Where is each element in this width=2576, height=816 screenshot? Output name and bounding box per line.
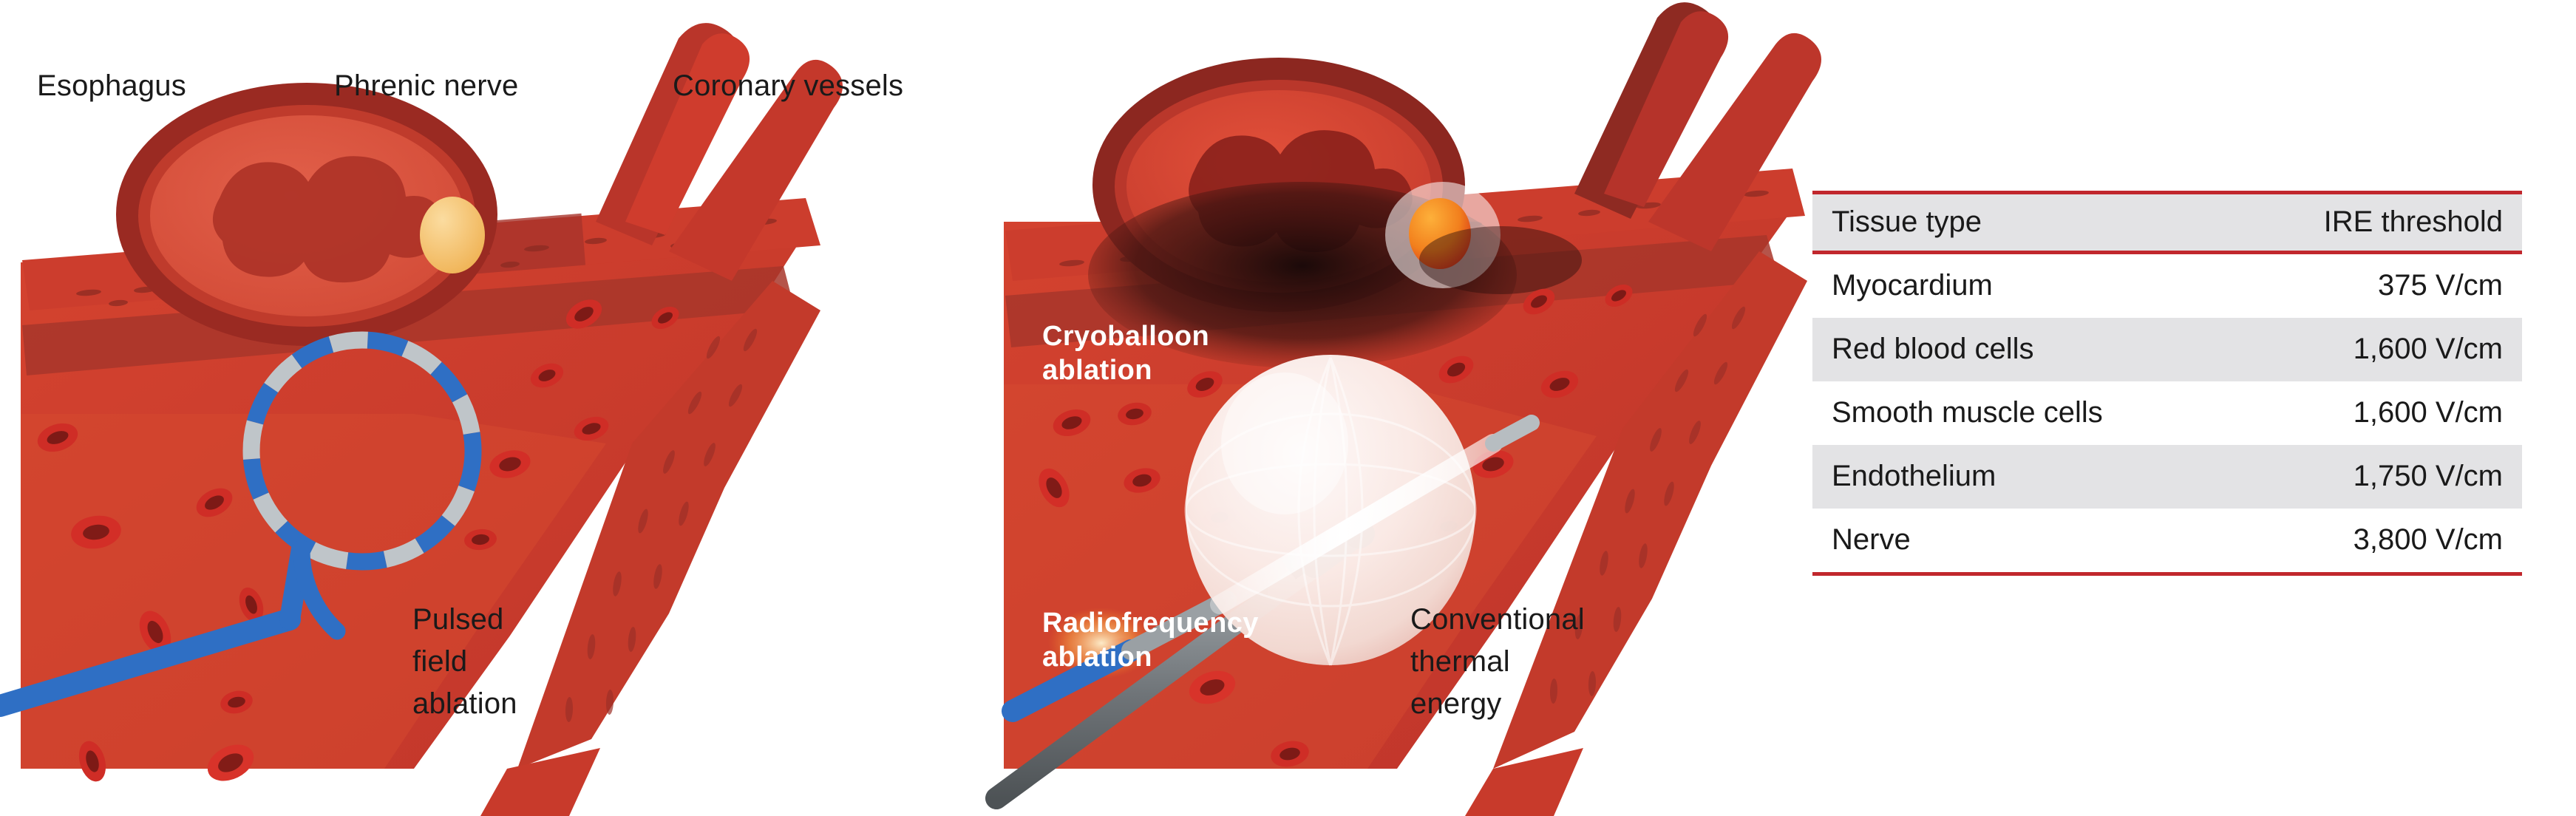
- label-esophagus: Esophagus: [37, 65, 186, 107]
- figure-root: Esophagus Phrenic nerve Coronary vessels…: [0, 0, 2576, 816]
- cell-ire-threshold: 3,800 V/cm: [2167, 509, 2522, 574]
- tissue-flap: [1465, 748, 1583, 816]
- table-row: Myocardium 375 V/cm: [1812, 253, 2522, 319]
- cell-tissue-type: Nerve: [1812, 509, 2167, 574]
- cell-ire-threshold: 375 V/cm: [2167, 253, 2522, 319]
- table-row: Endothelium 1,750 V/cm: [1812, 445, 2522, 509]
- table-body: Myocardium 375 V/cm Red blood cells 1,60…: [1812, 253, 2522, 574]
- cell-ire-threshold: 1,600 V/cm: [2167, 318, 2522, 381]
- cell-ire-threshold: 1,600 V/cm: [2167, 381, 2522, 445]
- cell-tissue-type: Endothelium: [1812, 445, 2167, 509]
- caption-conventional-thermal-energy: Conventional thermal energy: [1410, 599, 1585, 724]
- phrenic-nerve: [420, 197, 485, 273]
- table-header-row: Tissue type IRE threshold: [1812, 193, 2522, 253]
- label-phrenic-nerve: Phrenic nerve: [334, 65, 518, 107]
- panel-conventional-thermal-energy: [983, 0, 1833, 816]
- cell-tissue-type: Myocardium: [1812, 253, 2167, 319]
- cell-tissue-type: Red blood cells: [1812, 318, 2167, 381]
- label-cryoballoon-ablation: Cryoballoon ablation: [1042, 319, 1209, 388]
- table-row: Nerve 3,800 V/cm: [1812, 509, 2522, 574]
- table-row: Red blood cells 1,600 V/cm: [1812, 318, 2522, 381]
- table-header: Tissue type IRE threshold: [1812, 193, 2522, 253]
- column-header-ire-threshold: IRE threshold: [2167, 193, 2522, 253]
- table-row: Smooth muscle cells 1,600 V/cm: [1812, 381, 2522, 445]
- caption-pulsed-field-ablation: Pulsed field ablation: [412, 599, 517, 724]
- label-coronary-vessels: Coronary vessels: [673, 65, 903, 107]
- label-radiofrequency-ablation: Radiofrequency ablation: [1042, 606, 1259, 675]
- cell-ire-threshold: 1,750 V/cm: [2167, 445, 2522, 509]
- column-header-tissue-type: Tissue type: [1812, 193, 2167, 253]
- cell-tissue-type: Smooth muscle cells: [1812, 381, 2167, 445]
- ire-threshold-table: Tissue type IRE threshold Myocardium 375…: [1812, 191, 2522, 576]
